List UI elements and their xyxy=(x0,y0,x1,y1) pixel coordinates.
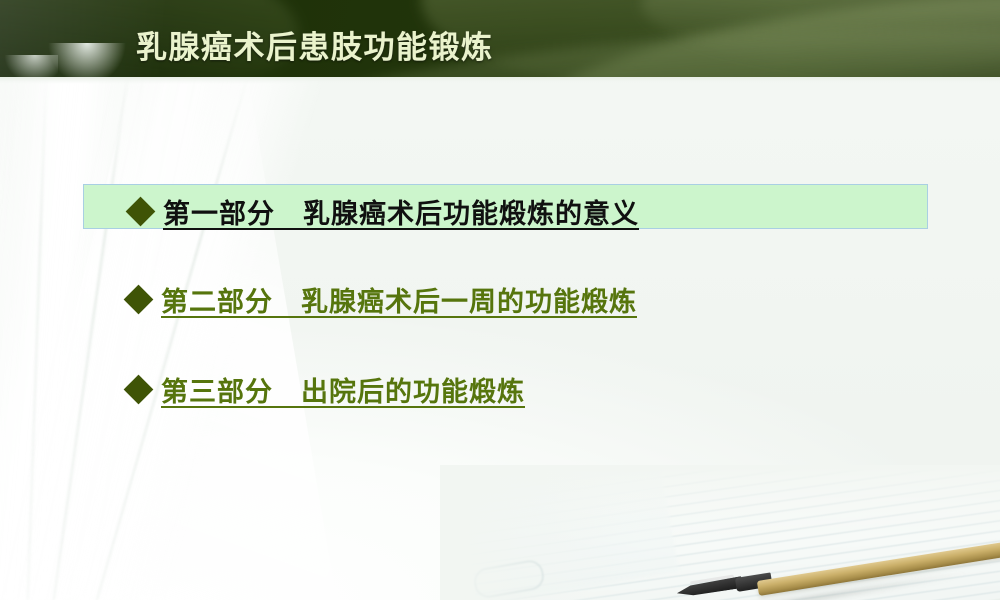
bullet-item-1-label: 第一部分 乳腺癌术后功能煅炼的意义 xyxy=(163,192,639,231)
presentation-slide: 乳腺癌术后患肢功能锻炼 第一部分 乳腺癌术后功能煅炼的意义 第二部分 乳腺癌术后… xyxy=(0,0,1000,600)
bullet-item-2[interactable]: 第二部分 乳腺癌术后一周的功能煅炼 xyxy=(128,280,637,319)
bullet-list: 第一部分 乳腺癌术后功能煅炼的意义 第二部分 乳腺癌术后一周的功能煅炼 第三部分… xyxy=(0,0,1000,600)
bullet-item-3-label: 第三部分 出院后的功能煅炼 xyxy=(161,370,525,409)
diamond-bullet-icon xyxy=(126,197,156,227)
diamond-bullet-icon xyxy=(124,375,154,405)
diamond-bullet-icon xyxy=(124,285,154,315)
bullet-item-1[interactable]: 第一部分 乳腺癌术后功能煅炼的意义 xyxy=(130,192,639,231)
bullet-item-2-label: 第二部分 乳腺癌术后一周的功能煅炼 xyxy=(161,280,637,319)
bullet-item-3[interactable]: 第三部分 出院后的功能煅炼 xyxy=(128,370,525,409)
